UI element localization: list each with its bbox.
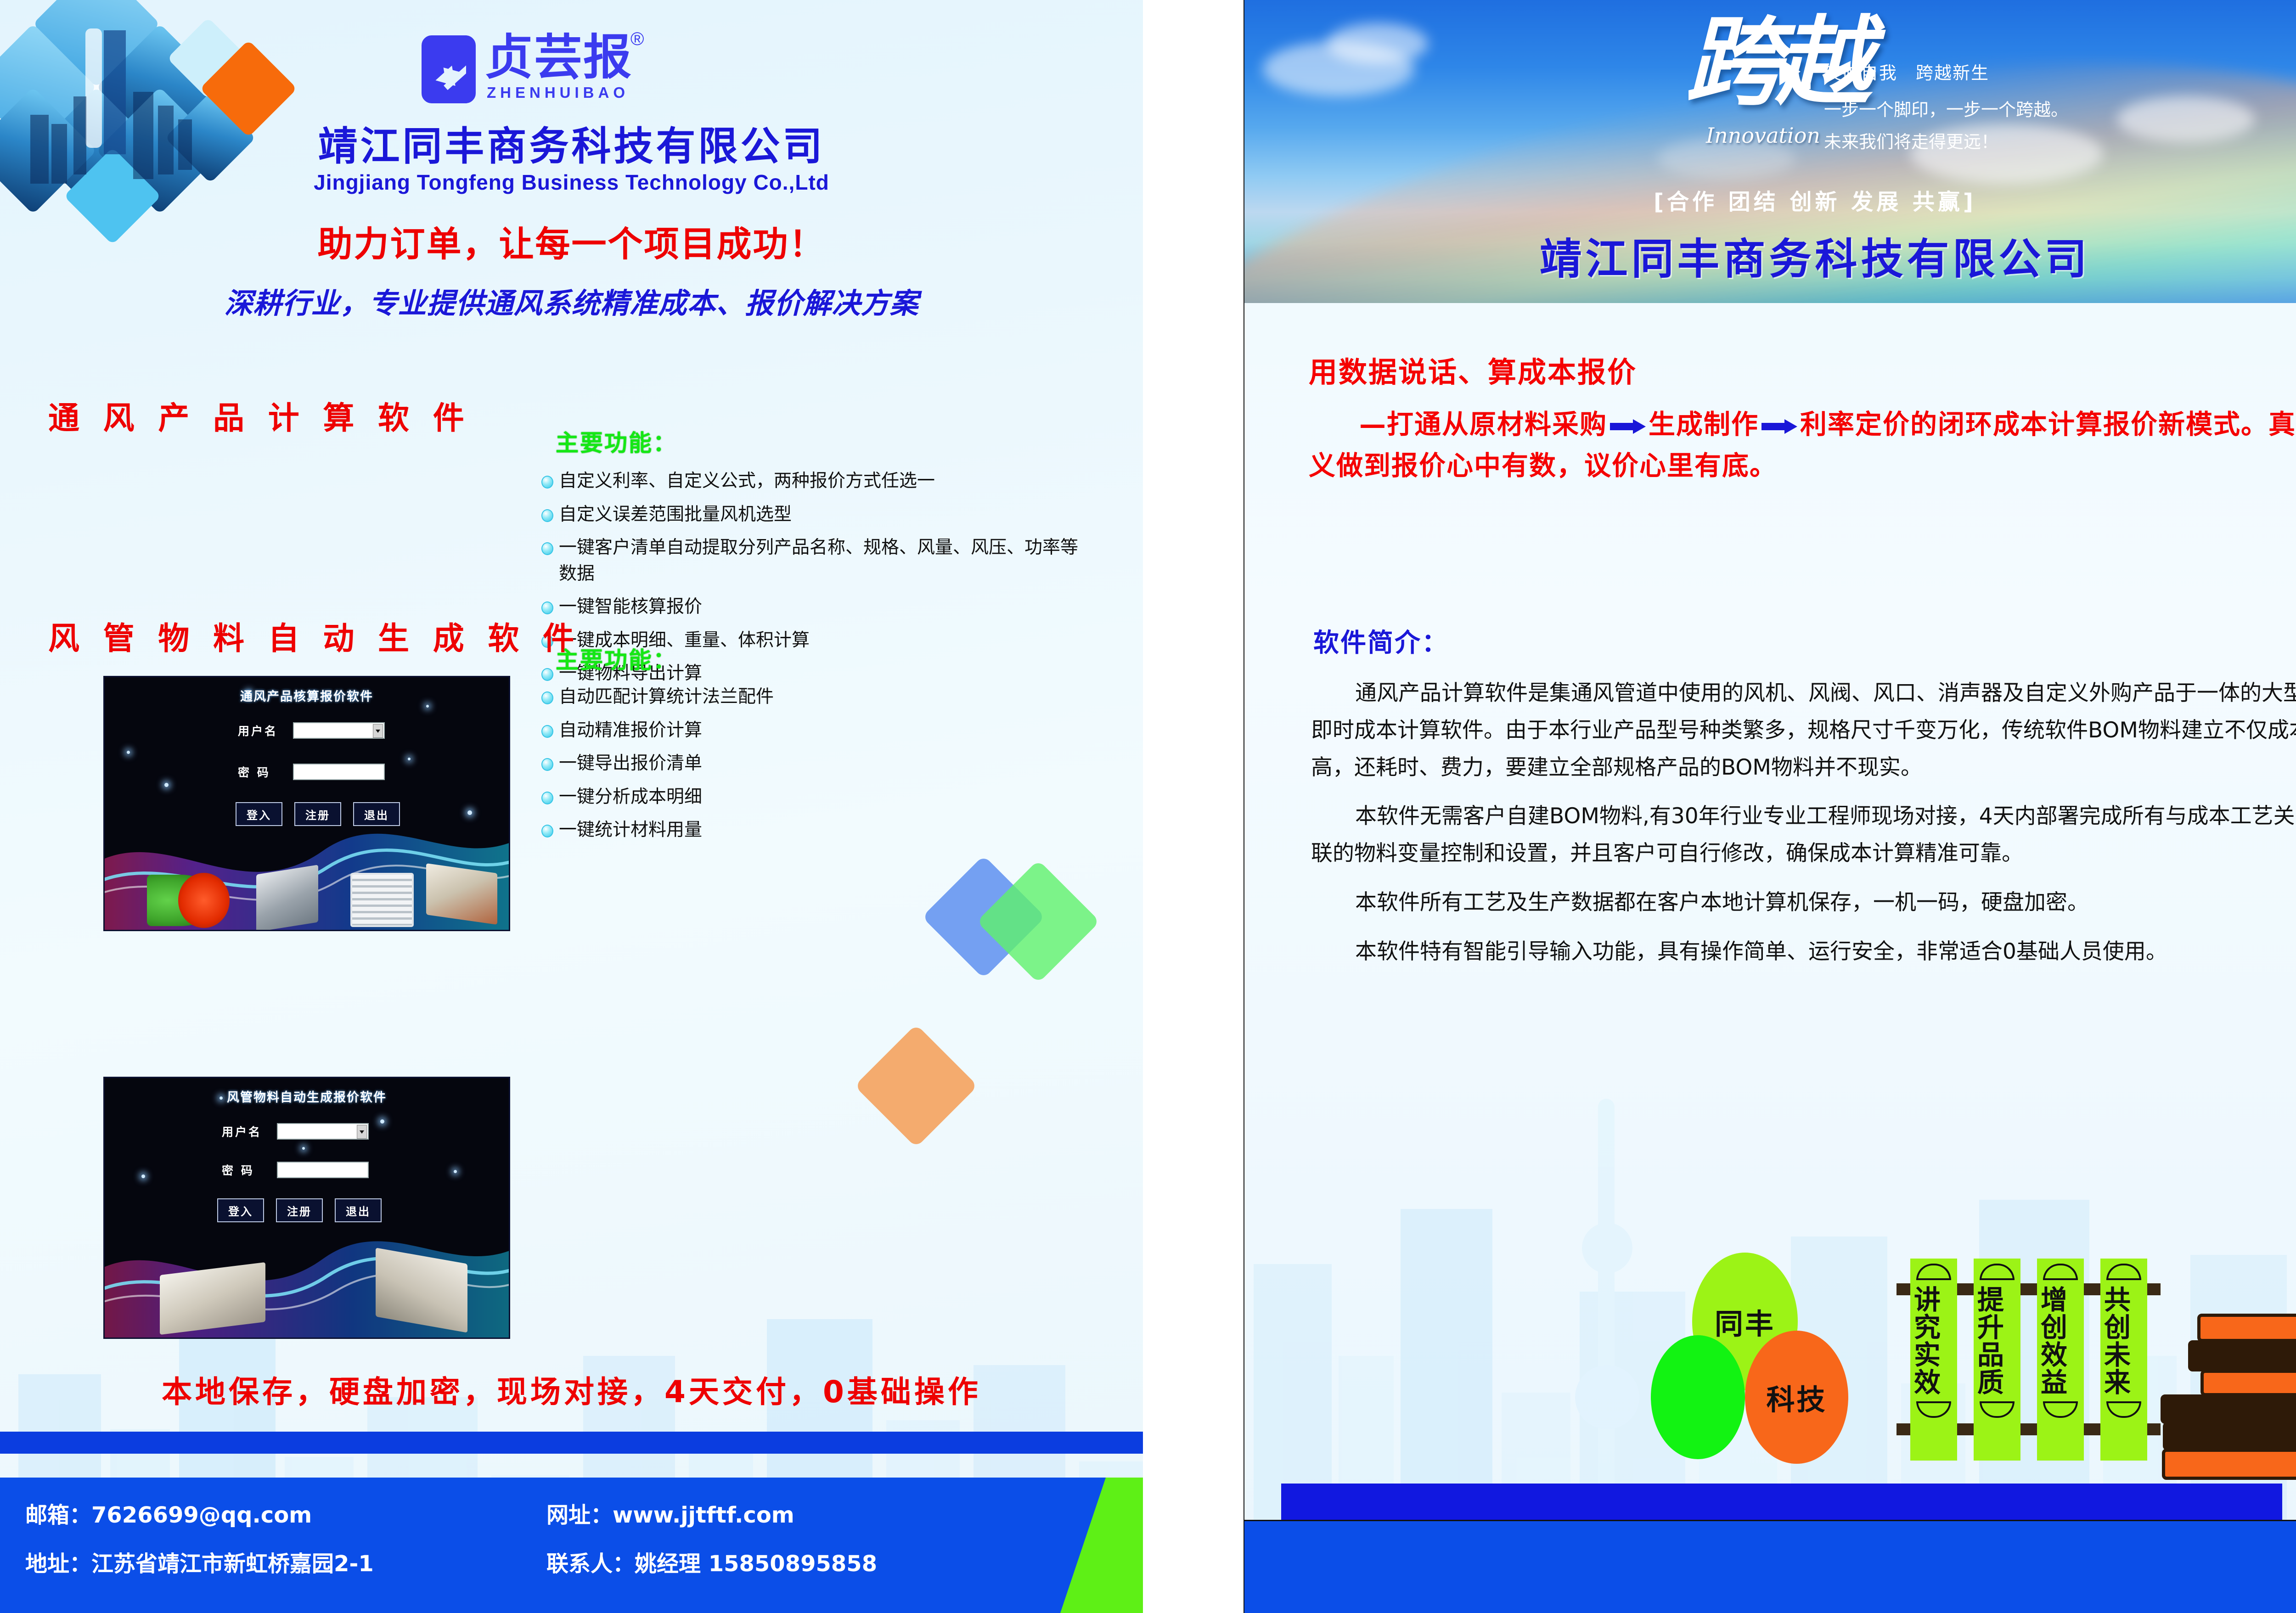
hero-tagline-3: 未来我们将走得更远！ xyxy=(1824,128,1998,153)
headline2-part-b: 生成制作 xyxy=(1649,409,1759,440)
book-dark-3 xyxy=(2163,1422,2296,1450)
list-item: 自动精准报价计算 xyxy=(540,718,1081,744)
username-label-2: 用户名 xyxy=(222,1123,277,1140)
ellipse-green-blank xyxy=(1651,1335,1745,1459)
intro-paragraph: 本软件无需客户自建BOM物料,有30年行业专业工程师现场对接，4天内部署完成所有… xyxy=(1311,798,2296,872)
banner-slogan-3: 增创效益 xyxy=(2037,1259,2084,1461)
hero-company-name: 靖江同丰商务科技有限公司 xyxy=(1244,225,2296,286)
footer-email[interactable]: 邮箱：7626699@qq.com xyxy=(25,1497,312,1529)
features-list-2: 自动匹配计算统计法兰配件 自动精准报价计算 一键导出报价清单 一键分析成本明细 … xyxy=(540,684,1081,851)
intro-paragraph: 通风产品计算软件是集通风管道中使用的风机、风阀、风口、消声器及自定义外购产品于一… xyxy=(1311,675,2296,786)
product-damper-image xyxy=(256,865,318,931)
bottom-slogan: 本地保存，硬盘加密，现场对接，4天交付，0基础操作 xyxy=(0,1367,1143,1411)
banner-slogan-4: 共创未来 xyxy=(2100,1259,2147,1461)
logo-mark-icon xyxy=(422,35,476,103)
footer-website[interactable]: 网址：www.jjtftf.com xyxy=(546,1497,794,1529)
play-triangle-icon xyxy=(1779,58,1801,85)
list-item: 自定义利率、自定义公式，两种报价方式任选一 xyxy=(540,468,1081,495)
intro-paragraph: 本软件所有工艺及生产数据都在客户本地计算机保存，一机一码，硬盘加密。 xyxy=(1311,884,2296,922)
hero-innovation-label: Innovation xyxy=(1706,123,1820,148)
password-input-2[interactable] xyxy=(277,1162,369,1178)
list-item: 一键分析成本明细 xyxy=(540,784,1081,810)
footer-green-accent xyxy=(1060,1478,1143,1613)
exit-button-2[interactable]: 退出 xyxy=(335,1198,382,1222)
vertical-rule xyxy=(1808,54,1811,89)
username-input-2[interactable] xyxy=(277,1123,369,1140)
software-screenshot-2: 风管物料自动生成报价软件 用户名 密 码 登入 注册 退出 xyxy=(103,1077,510,1339)
hero-core-values: [合作 团结 创新 发展 共赢] xyxy=(1244,184,2296,216)
password-label-1: 密 码 xyxy=(238,764,293,780)
book-orange-3 xyxy=(2162,1449,2296,1480)
brand-logo: 贞芸报 ® ZHENHUIBAO xyxy=(422,25,642,110)
headline2-part-a: —打通从原材料采购 xyxy=(1359,409,1607,440)
right-page: 跨越 Innovation 突破自我 跨越新生 一步一个脚印，一步一个跨越。 未… xyxy=(1244,0,2296,1613)
book-orange-2 xyxy=(2200,1370,2296,1396)
poster-spread: 贞芸报 ® ZHENHUIBAO 靖江同丰商务科技有限公司 Jingjiang … xyxy=(0,0,2296,1613)
left-page: 贞芸报 ® ZHENHUIBAO 靖江同丰商务科技有限公司 Jingjiang … xyxy=(0,0,1143,1613)
ellipse-keji: 科技 xyxy=(1745,1331,1848,1464)
sub-slogan: 深耕行业，专业提供通风系统精准成本、报价解决方案 xyxy=(0,280,1143,321)
book-dark-1 xyxy=(2188,1340,2296,1371)
username-label-1: 用户名 xyxy=(238,722,293,739)
hero-tagline-2: 一步一个脚印，一步一个跨越。 xyxy=(1824,96,2068,121)
logo-chinese-name: 贞芸报 xyxy=(485,34,632,82)
register-button-2[interactable]: 注册 xyxy=(276,1198,323,1222)
list-item: 自定义误差范围批量风机选型 xyxy=(540,502,1081,528)
banner-slogan-2: 提升品质 xyxy=(1974,1259,2020,1461)
password-input-1[interactable] xyxy=(293,764,385,780)
footer-contact: 联系人：姚经理 15850895858 xyxy=(546,1546,877,1578)
exit-button-1[interactable]: 退出 xyxy=(353,802,400,826)
screenshot-title-1: 通风产品核算报价软件 xyxy=(105,686,509,704)
divider-bar xyxy=(0,1432,1143,1454)
section-title-ventilation-software: 通 风 产 品 计 算 软 件 xyxy=(48,393,471,438)
list-item: 一键导出报价清单 xyxy=(540,751,1081,777)
register-button-1[interactable]: 注册 xyxy=(294,802,341,826)
section-title-duct-material-software: 风 管 物 料 自 动 生 成 软 件 xyxy=(48,613,580,658)
right-headline-1: 用数据说话、算成本报价 xyxy=(1309,349,1637,390)
main-slogan: 助力订单，让每一个项目成功！ xyxy=(0,216,1143,266)
software-screenshot-1: 通风产品核算报价软件 用户名 密 码 登入 注册 退出 xyxy=(103,676,510,931)
intro-body: 通风产品计算软件是集通风管道中使用的风机、风阀、风口、消声器及自定义外购产品于一… xyxy=(1311,675,2296,983)
product-duct-image xyxy=(426,863,497,925)
list-item: 自动匹配计算统计法兰配件 xyxy=(540,684,1081,710)
screenshot-title-2: 风管物料自动生成报价软件 xyxy=(105,1087,509,1105)
banner-slogan-1: 讲究实效 xyxy=(1910,1259,1957,1461)
footer-address: 地址：江苏省靖江市新虹桥嘉园2-1 xyxy=(25,1546,374,1578)
book-dark-2 xyxy=(2161,1394,2296,1424)
hero-tagline-1: 突破自我 跨越新生 xyxy=(1824,59,1989,84)
product-fan-rotor xyxy=(178,873,230,928)
right-headline-2: —打通从原材料采购生成制作利率定价的闭环成本计算报价新模式。真正意义做到报价心中… xyxy=(1309,404,2296,487)
arrow-right-icon xyxy=(1610,419,1646,433)
chevron-down-icon[interactable] xyxy=(357,1125,367,1139)
list-item: 一键统计材料用量 xyxy=(540,817,1081,843)
login-button-1[interactable]: 登入 xyxy=(236,802,282,826)
product-grille-image xyxy=(350,873,414,927)
intro-title: 软件简介： xyxy=(1313,622,1449,659)
username-input-1[interactable] xyxy=(293,722,385,739)
hero-banner: 跨越 Innovation 突破自我 跨越新生 一步一个脚印，一步一个跨越。 未… xyxy=(1244,0,2296,303)
company-name-cn: 靖江同丰商务科技有限公司 xyxy=(0,114,1143,171)
features-heading-1: 主要功能： xyxy=(556,425,677,458)
right-bottom-blue-bar xyxy=(1244,1520,2296,1613)
list-item: 一键客户清单自动提取分列产品名称、规格、风量、风压、功率等数据 xyxy=(540,535,1081,587)
arrow-right-icon-2 xyxy=(1761,419,1797,433)
password-label-2: 密 码 xyxy=(222,1162,277,1178)
company-name-en: Jingjiang Tongfeng Business Technology C… xyxy=(0,170,1143,195)
decorative-diamond-orange xyxy=(855,1024,978,1148)
logo-pinyin: ZHENHUIBAO xyxy=(487,84,629,101)
footer-contact-bar: 邮箱：7626699@qq.com 网址：www.jjtftf.com 地址：江… xyxy=(0,1478,1143,1613)
registered-trademark-icon: ® xyxy=(630,29,644,50)
chevron-down-icon[interactable] xyxy=(373,724,383,738)
list-item: 一键智能核算报价 xyxy=(540,594,1081,620)
features-heading-2: 主要功能： xyxy=(556,642,677,675)
login-button-2[interactable]: 登入 xyxy=(217,1198,264,1222)
intro-paragraph: 本软件特有智能引导输入功能，具有操作简单、运行安全，非常适合0基础人员使用。 xyxy=(1311,933,2296,971)
book-orange-1 xyxy=(2197,1314,2296,1342)
